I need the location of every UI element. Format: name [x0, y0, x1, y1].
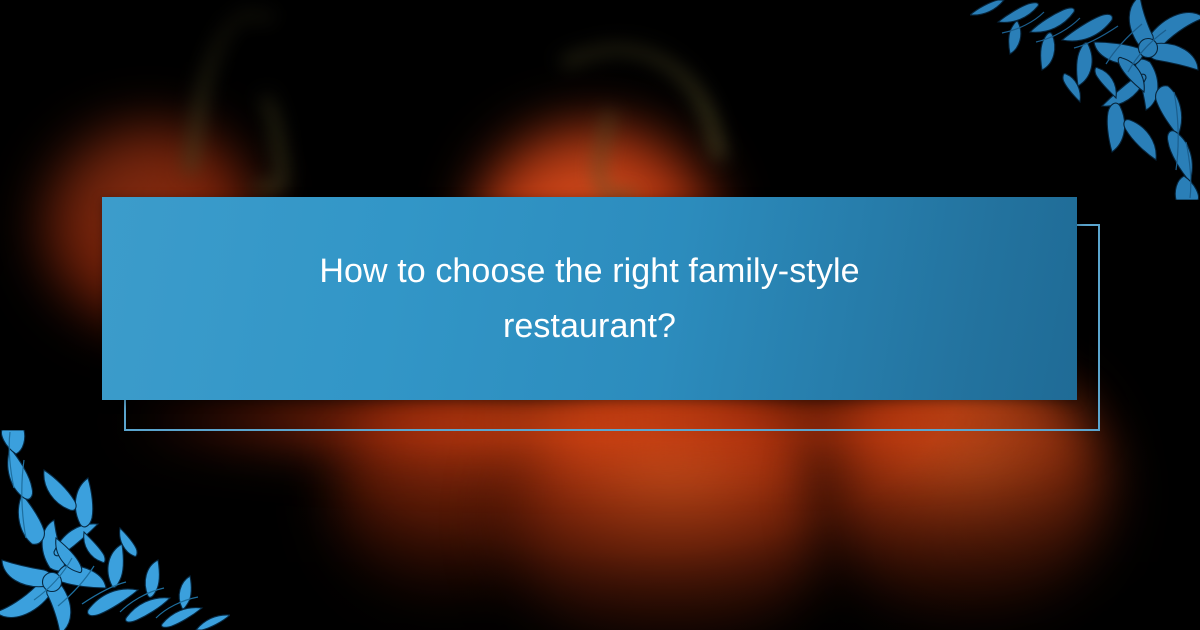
page-title: How to choose the right family-style res…	[270, 244, 910, 354]
share-banner: How to choose the right family-style res…	[0, 0, 1200, 630]
title-card: How to choose the right family-style res…	[102, 197, 1077, 400]
